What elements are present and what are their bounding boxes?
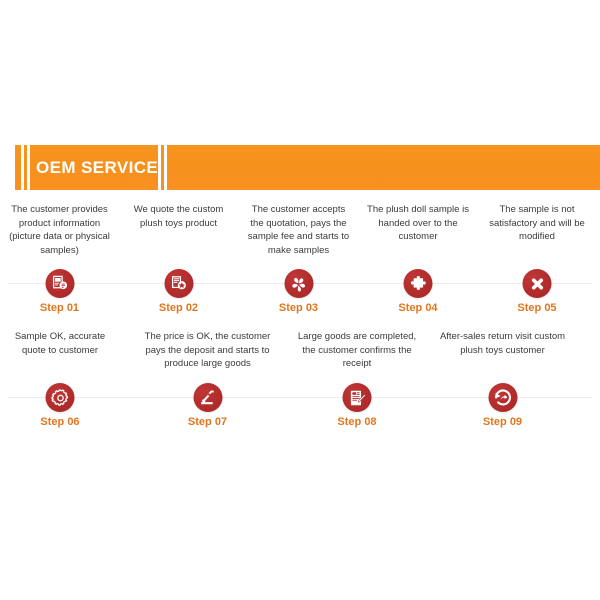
step-description: The customer provides product informatio… — [2, 203, 117, 257]
step-description: The price is OK, the customer pays the d… — [140, 330, 275, 371]
page-title: OEM SERVICE — [36, 145, 158, 190]
step-row-1: The customer provides product informatio… — [0, 203, 600, 313]
step-label: Step 03 — [245, 302, 352, 314]
step-description: The sample is not satisfactory and will … — [477, 203, 597, 244]
receipt-signature-icon[interactable] — [343, 383, 372, 412]
step-description: The customer accepts the quotation, pays… — [245, 203, 352, 257]
gear-icon[interactable] — [46, 383, 75, 412]
header-separator-1 — [21, 145, 24, 190]
step-icon-wrapper[interactable] — [46, 383, 75, 412]
pinwheel-fan-icon[interactable] — [284, 269, 313, 298]
step-label: Step 06 — [3, 416, 117, 428]
step-icon-wrapper[interactable] — [193, 383, 222, 412]
step-icon-wrapper[interactable] — [45, 269, 74, 298]
step-item-09[interactable]: After-sales return visit custom plush to… — [437, 330, 568, 357]
step-icon-wrapper[interactable] — [343, 383, 372, 412]
step-icon-wrapper[interactable] — [164, 269, 193, 298]
step-item-06[interactable]: Sample OK, accurate quote to customer St… — [3, 330, 117, 357]
step-item-05[interactable]: The sample is not satisfactory and will … — [477, 203, 597, 244]
header-band: OEM SERVICE — [0, 145, 600, 190]
step-label: Step 04 — [361, 302, 475, 314]
step-label: Step 09 — [437, 416, 568, 428]
step-icon-wrapper[interactable] — [488, 383, 517, 412]
step-icon-wrapper[interactable] — [404, 269, 433, 298]
step-description: After-sales return visit custom plush to… — [437, 330, 568, 357]
step-description: We quote the custom plush toys product — [126, 203, 231, 230]
quote-document-icon[interactable] — [164, 269, 193, 298]
step-item-04[interactable]: The plush doll sample is handed over to … — [361, 203, 475, 244]
oem-service-infographic: OEM SERVICE The customer provides produc… — [0, 0, 600, 600]
step-label: Step 05 — [477, 302, 597, 314]
cross-x-icon[interactable] — [523, 269, 552, 298]
step-item-01[interactable]: The customer provides product informatio… — [2, 203, 117, 257]
step-label: Step 08 — [293, 416, 421, 428]
step-row-2: Sample OK, accurate quote to customer St… — [0, 330, 600, 440]
step-description: The plush doll sample is handed over to … — [361, 203, 475, 244]
step-icon-wrapper[interactable] — [523, 269, 552, 298]
step-description: Large goods are completed, the customer … — [293, 330, 421, 371]
step-label: Step 02 — [126, 302, 231, 314]
step-description: Sample OK, accurate quote to customer — [3, 330, 117, 357]
step-label: Step 07 — [140, 416, 275, 428]
step-item-03[interactable]: The customer accepts the quotation, pays… — [245, 203, 352, 257]
return-arrow-icon[interactable] — [488, 383, 517, 412]
step-item-07[interactable]: The price is OK, the customer pays the d… — [140, 330, 275, 371]
header-separator-4 — [164, 145, 167, 190]
document-image-icon[interactable] — [45, 269, 74, 298]
robot-arm-icon[interactable] — [193, 383, 222, 412]
step-icon-wrapper[interactable] — [284, 269, 313, 298]
step-item-02[interactable]: We quote the custom plush toys product S… — [126, 203, 231, 230]
header-separator-3 — [158, 145, 161, 190]
step-item-08[interactable]: Large goods are completed, the customer … — [293, 330, 421, 371]
step-label: Step 01 — [2, 302, 117, 314]
puzzle-piece-icon[interactable] — [404, 269, 433, 298]
header-separator-2 — [27, 145, 30, 190]
